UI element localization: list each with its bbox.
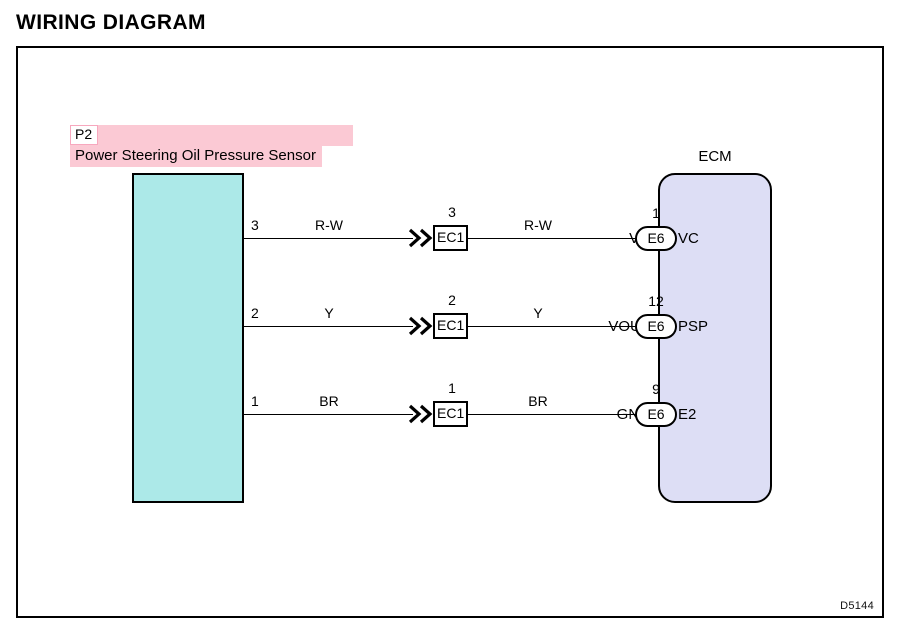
diagram-frame: P2 Power Steering Oil Pressure Sensor EC… [16,46,884,618]
wire-color-code-left: BR [284,394,374,408]
double-chevron-right-icon [409,227,435,249]
ecm-connector-pin-number: 1 [635,206,677,220]
wire-segment-left [244,238,413,239]
wire-color-code-left: Y [284,306,374,320]
page-title: WIRING DIAGRAM [16,12,206,33]
ecm-component-box [658,173,772,503]
junction-pin-number: 1 [433,381,471,395]
figure-reference-code: D5144 [840,600,874,612]
wire-color-code-left: R-W [284,218,374,232]
ecm-connector-pin-number: 9 [635,382,677,396]
ecm-pin-label-e2: E2 [678,407,696,422]
ecm-pin-label-vc: VC [678,231,699,246]
wire-color-code-right: BR [478,394,598,408]
wire-segment-right [465,414,658,415]
sensor-connector-code: P2 [70,125,98,145]
ecm-connector-pin-number: 12 [635,294,677,308]
sensor-component-box [132,173,244,503]
junction-pin-number: 2 [433,293,471,307]
wire-color-code-right: R-W [478,218,598,232]
double-chevron-right-icon [409,403,435,425]
sensor-label-group: P2 Power Steering Oil Pressure Sensor [70,125,322,167]
ecm-connector-e6: E6 [635,226,677,251]
wire-segment-right [465,238,658,239]
wire-segment-right [465,326,658,327]
wire-segment-left [244,326,413,327]
sensor-pin-number: 3 [251,218,259,232]
junction-connector-ec1: EC1 [433,313,468,339]
junction-connector-ec1: EC1 [433,225,468,251]
sensor-name-label: Power Steering Oil Pressure Sensor [70,145,322,167]
wire-segment-left [244,414,413,415]
junction-connector-ec1: EC1 [433,401,468,427]
ecm-connector-e6: E6 [635,314,677,339]
ecm-pin-label-psp: PSP [678,319,708,334]
ecm-title-label: ECM [658,148,772,165]
junction-pin-number: 3 [433,205,471,219]
wire-color-code-right: Y [478,306,598,320]
diagram-canvas: P2 Power Steering Oil Pressure Sensor EC… [18,48,882,616]
double-chevron-right-icon [409,315,435,337]
ecm-connector-e6: E6 [635,402,677,427]
sensor-pin-number: 2 [251,306,259,320]
sensor-pin-number: 1 [251,394,259,408]
sensor-code-highlight-bar [70,125,353,146]
